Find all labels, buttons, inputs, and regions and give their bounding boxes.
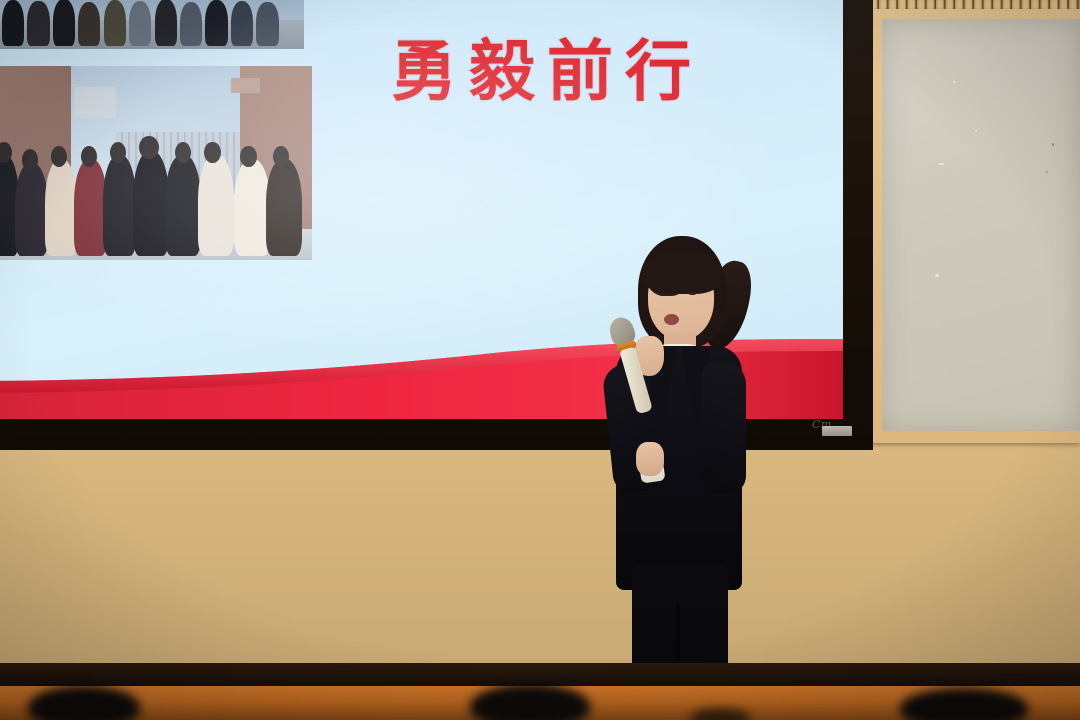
- speaker-figure: [596, 236, 776, 720]
- slide-title: 勇毅前行: [391, 36, 721, 107]
- slide-photo-courtyard: [0, 66, 312, 260]
- speaker-eye-right: [688, 291, 697, 295]
- speaker-arm-right: [702, 362, 746, 494]
- audience-head: [470, 684, 590, 720]
- speaker-eye-left: [658, 292, 667, 296]
- audience-head: [900, 688, 1028, 720]
- slide-photo-rooftop: [0, 0, 304, 49]
- speaker-mouth: [664, 314, 679, 325]
- speaker-hand-lower: [636, 442, 664, 476]
- audience-head: [28, 686, 140, 720]
- panel-speck: [1052, 143, 1054, 146]
- panel-speck: [975, 130, 977, 132]
- screen-brand-tag: [822, 426, 852, 436]
- panel-speck: [1046, 171, 1048, 173]
- speaker-hair-front: [642, 250, 722, 294]
- panel-speck: [953, 81, 956, 83]
- panel-speck: [939, 163, 944, 165]
- wall-board: [882, 19, 1080, 431]
- auditorium-scene: 勇毅前行: [0, 0, 1080, 720]
- panel-speck: [935, 274, 939, 277]
